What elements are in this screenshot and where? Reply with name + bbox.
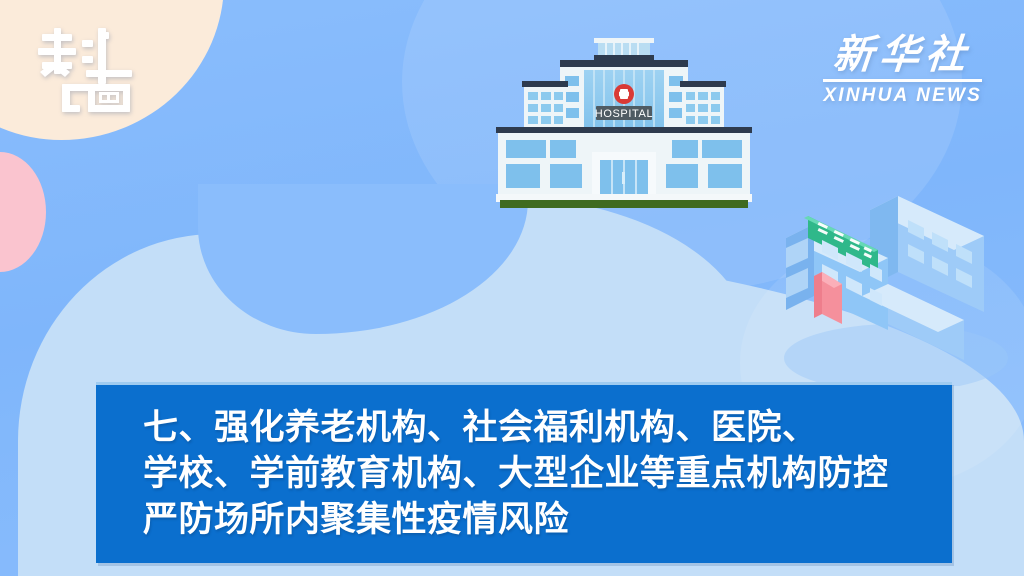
hospital-sign-text: HOSPITAL	[595, 108, 653, 120]
caption-line-2: 学校、学前教育机构、大型企业等重点机构防控	[143, 451, 938, 497]
xinhua-news-logo: 新华社 XINHUA NEWS	[823, 34, 982, 107]
kehua-logo	[36, 22, 148, 114]
care-home-illustration	[778, 162, 1024, 386]
hospital-illustration: HOSPITAL	[488, 28, 760, 220]
caption-text: 七、强化养老机构、社会福利机构、医院、 学校、学前教育机构、大型企业等重点机构防…	[143, 405, 938, 543]
caption-banner: 七、强化养老机构、社会福利机构、医院、 学校、学前教育机构、大型企业等重点机构防…	[96, 382, 952, 563]
infographic-card: 新华社 XINHUA NEWS	[0, 0, 1024, 576]
xinhua-logo-english: XINHUA NEWS	[823, 85, 982, 107]
caption-line-3: 严防场所内聚集性疫情风险	[143, 497, 938, 543]
xinhua-logo-chinese: 新华社	[822, 34, 984, 76]
xinhua-logo-rule	[823, 79, 982, 82]
caption-line-1: 七、强化养老机构、社会福利机构、医院、	[143, 405, 938, 451]
